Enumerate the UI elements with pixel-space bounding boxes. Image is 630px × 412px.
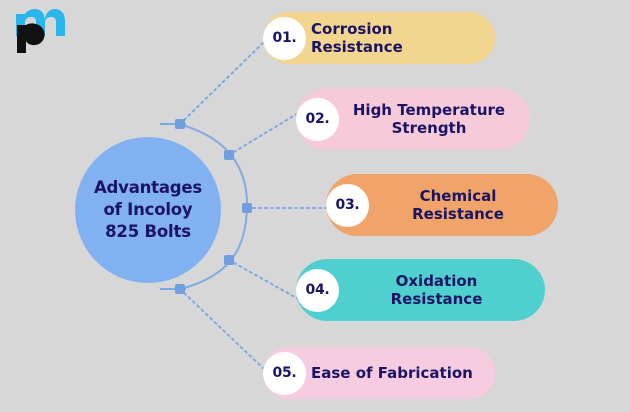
leader-line-5 — [180, 289, 266, 371]
junction-dot-4 — [224, 255, 234, 265]
hub-title: Advantages of Incoloy 825 Bolts — [94, 177, 202, 242]
junction-dot-1 — [175, 119, 185, 129]
advantage-badge-2: 02. — [296, 98, 339, 141]
leader-line-4 — [229, 260, 300, 300]
mp-logo-icon — [12, 6, 68, 56]
junction-dot-2 — [224, 150, 234, 160]
hub-circle: Advantages of Incoloy 825 Bolts — [75, 137, 221, 283]
junction-dot-5 — [175, 284, 185, 294]
mp-logo — [12, 6, 68, 56]
advantage-badge-5: 05. — [263, 352, 306, 395]
advantage-badge-3: 03. — [326, 184, 369, 227]
advantage-badge-4: 04. — [296, 269, 339, 312]
infographic-canvas: Advantages of Incoloy 825 Bolts Corrosio… — [0, 0, 630, 412]
junction-dot-3 — [242, 203, 252, 213]
advantage-badge-1: 01. — [263, 17, 306, 60]
leader-line-2 — [229, 112, 300, 155]
leader-line-1 — [180, 40, 266, 124]
